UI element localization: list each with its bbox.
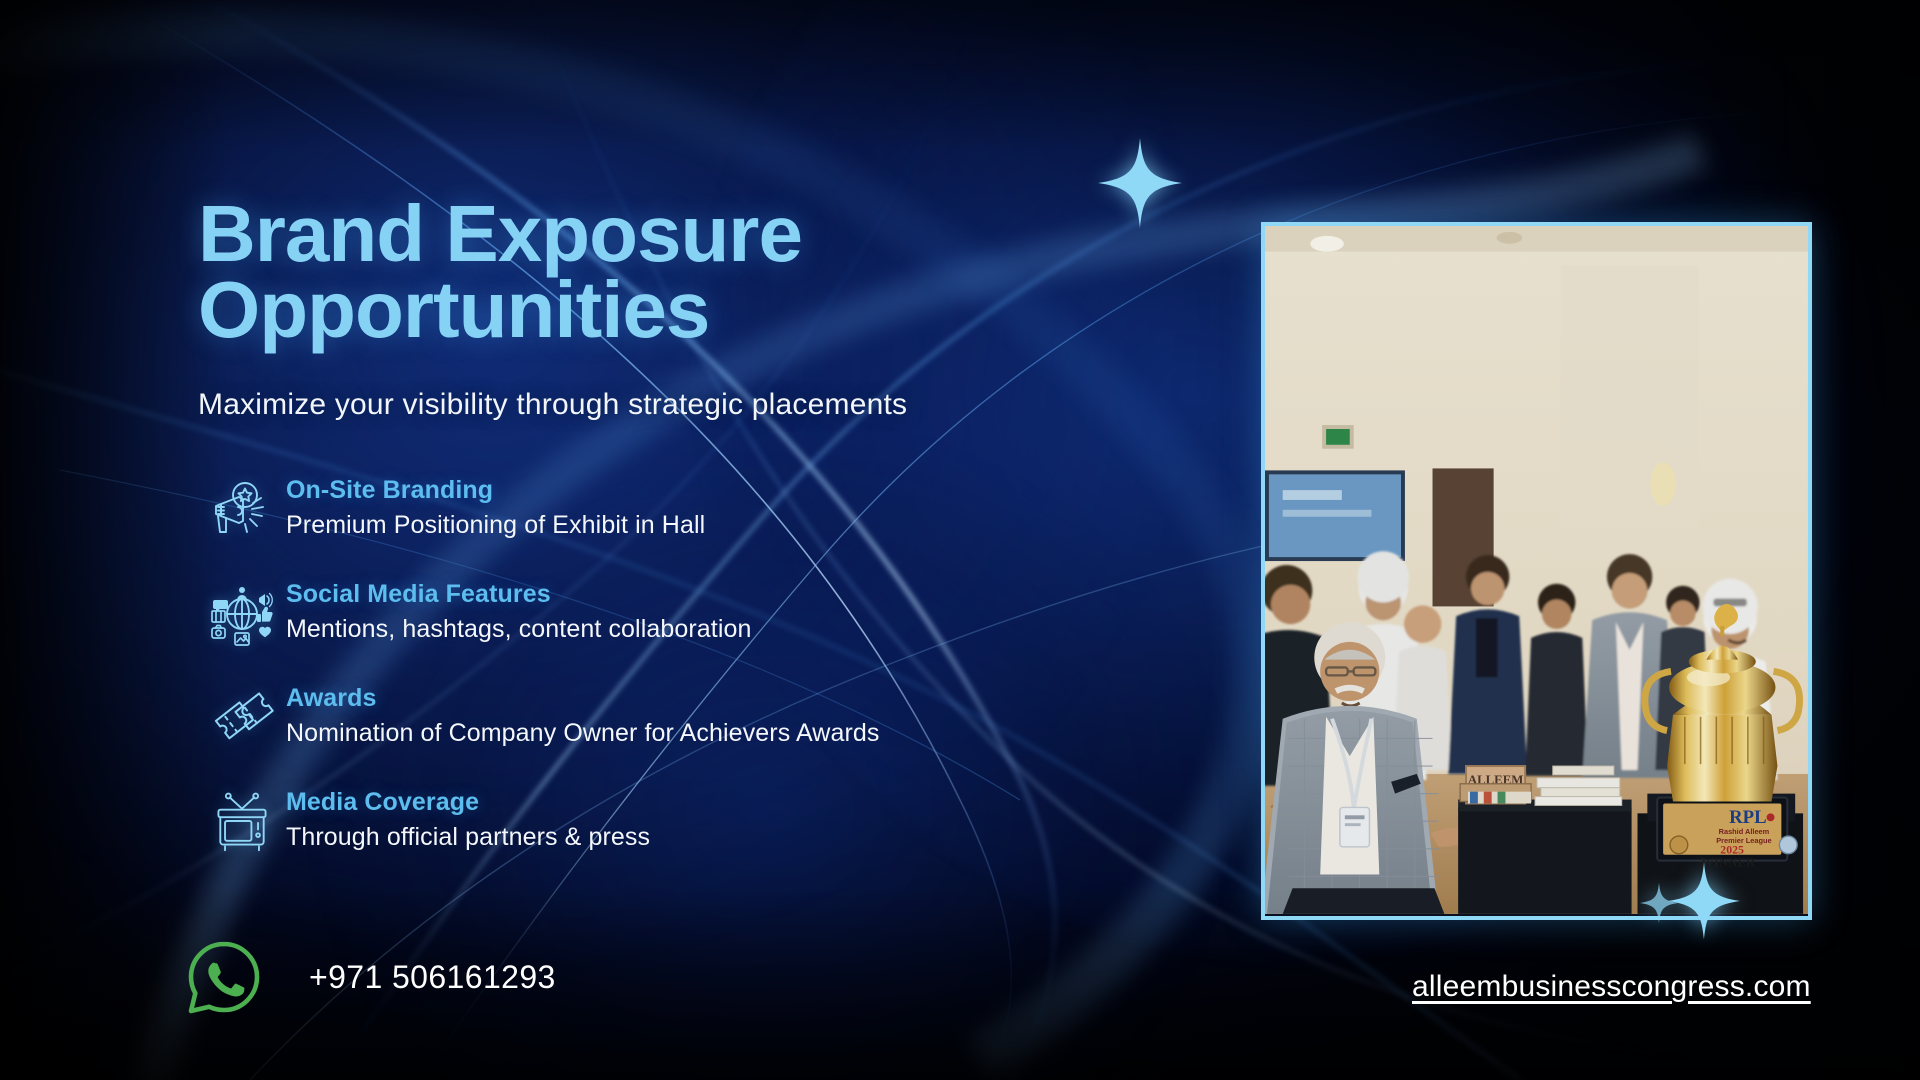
event-photo: ALLEEM BOOKS bbox=[1265, 226, 1808, 914]
feature-description: Mentions, hashtags, content collaboratio… bbox=[286, 615, 752, 644]
list-item-text: On-Site Branding Premium Positioning of … bbox=[286, 470, 705, 540]
feature-description: Nomination of Company Owner for Achiever… bbox=[286, 719, 880, 748]
feature-title: Awards bbox=[286, 684, 880, 713]
list-item: Social Media Features Mentions, hashtags… bbox=[198, 574, 1078, 658]
feature-description: Through official partners & press bbox=[286, 823, 650, 852]
contact-block[interactable]: +971 506161293 bbox=[185, 938, 556, 1016]
list-item-text: Awards Nomination of Company Owner for A… bbox=[286, 678, 880, 748]
retro-tv-icon bbox=[198, 782, 286, 860]
whatsapp-icon[interactable] bbox=[185, 938, 263, 1016]
website-link[interactable]: alleembusinesscongress.com bbox=[1412, 970, 1811, 1004]
phone-number[interactable]: +971 506161293 bbox=[309, 959, 556, 996]
feature-description: Premium Positioning of Exhibit in Hall bbox=[286, 511, 705, 540]
title-line-2: Opportunities bbox=[198, 272, 1078, 348]
list-item: Awards Nomination of Company Owner for A… bbox=[198, 678, 1078, 762]
feature-title: On-Site Branding bbox=[286, 476, 705, 505]
megaphone-star-icon bbox=[198, 470, 286, 548]
list-item-text: Media Coverage Through official partners… bbox=[286, 782, 650, 852]
feature-title: Social Media Features bbox=[286, 580, 752, 609]
list-item-text: Social Media Features Mentions, hashtags… bbox=[286, 574, 752, 644]
event-photo-frame: ALLEEM BOOKS bbox=[1261, 222, 1812, 920]
feature-list: On-Site Branding Premium Positioning of … bbox=[198, 470, 1078, 866]
globe-social-icon bbox=[198, 574, 286, 652]
four-point-star-sparkle-icon bbox=[1098, 138, 1182, 228]
main-content: Brand Exposure Opportunities Maximize yo… bbox=[198, 196, 1078, 866]
tickets-icon bbox=[198, 678, 286, 756]
list-item: On-Site Branding Premium Positioning of … bbox=[198, 470, 1078, 554]
page-subtitle: Maximize your visibility through strateg… bbox=[198, 388, 1078, 422]
feature-title: Media Coverage bbox=[286, 788, 650, 817]
list-item: Media Coverage Through official partners… bbox=[198, 782, 1078, 866]
slide-canvas: Brand Exposure Opportunities Maximize yo… bbox=[0, 0, 1920, 1080]
page-title: Brand Exposure Opportunities bbox=[198, 196, 1078, 348]
